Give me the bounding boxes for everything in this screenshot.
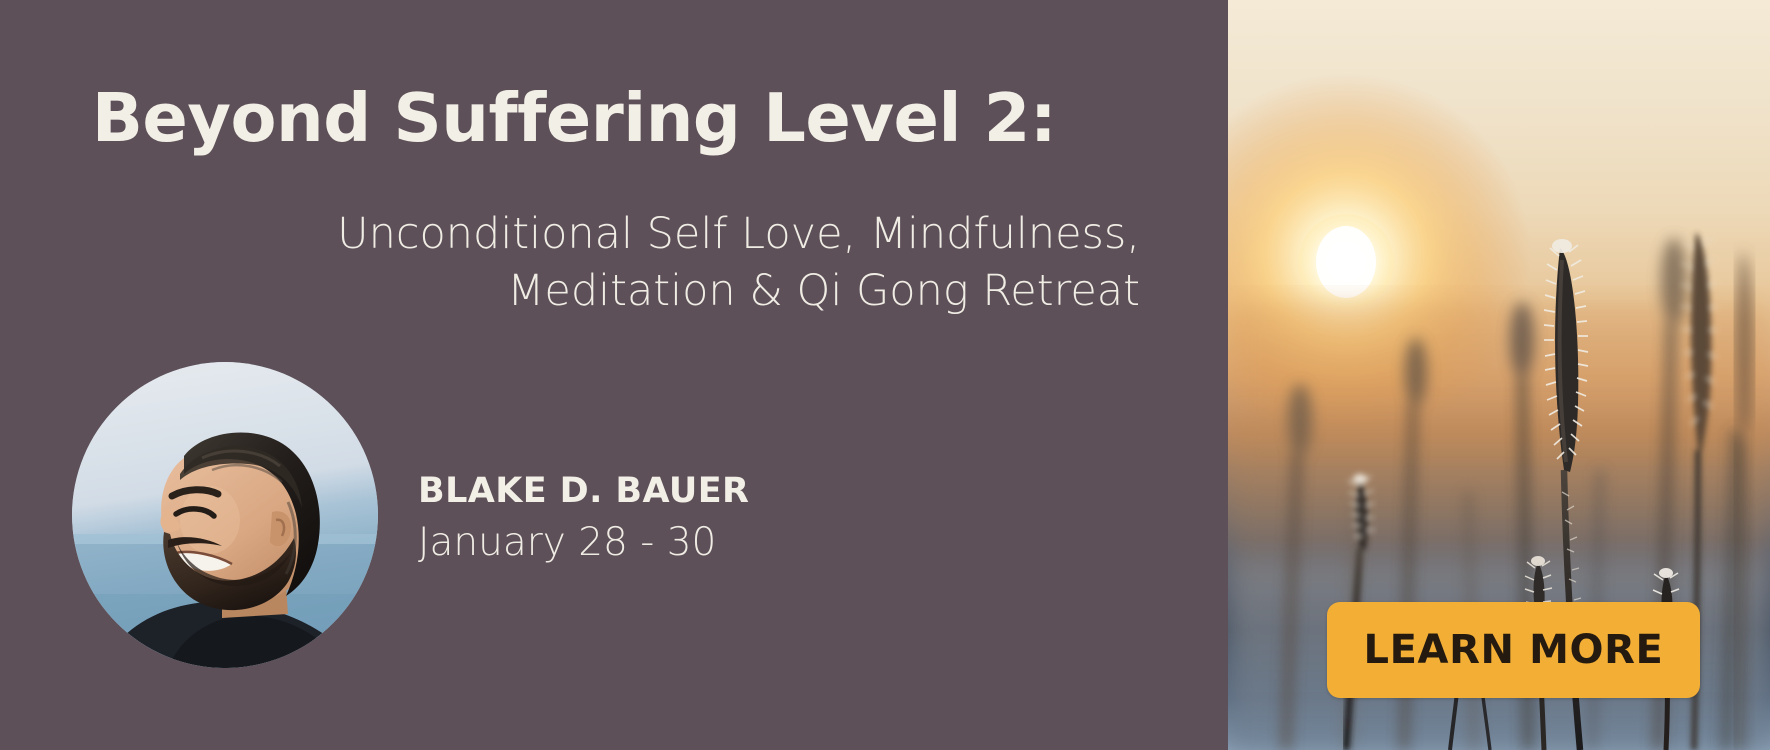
learn-more-button[interactable]: LEARN MORE bbox=[1327, 602, 1700, 698]
right-photo-panel: LEARN MORE bbox=[1228, 0, 1770, 750]
subtitle-line-2: Meditation & Qi Gong Retreat bbox=[0, 263, 1140, 320]
presenter-info: BLAKE D. BAUER January 28 - 30 bbox=[418, 470, 1038, 567]
left-text-panel: Beyond Suffering Level 2: Unconditional … bbox=[0, 0, 1228, 750]
avatar bbox=[72, 362, 378, 668]
subtitle: Unconditional Self Love, Mindfulness, Me… bbox=[0, 206, 1148, 320]
presenter-name: BLAKE D. BAUER bbox=[418, 470, 1038, 512]
subtitle-line-1: Unconditional Self Love, Mindfulness, bbox=[337, 209, 1140, 259]
page-title: Beyond Suffering Level 2: bbox=[0, 84, 1148, 152]
event-dates: January 28 - 30 bbox=[418, 520, 1038, 567]
event-promo-banner: Beyond Suffering Level 2: Unconditional … bbox=[0, 0, 1770, 750]
